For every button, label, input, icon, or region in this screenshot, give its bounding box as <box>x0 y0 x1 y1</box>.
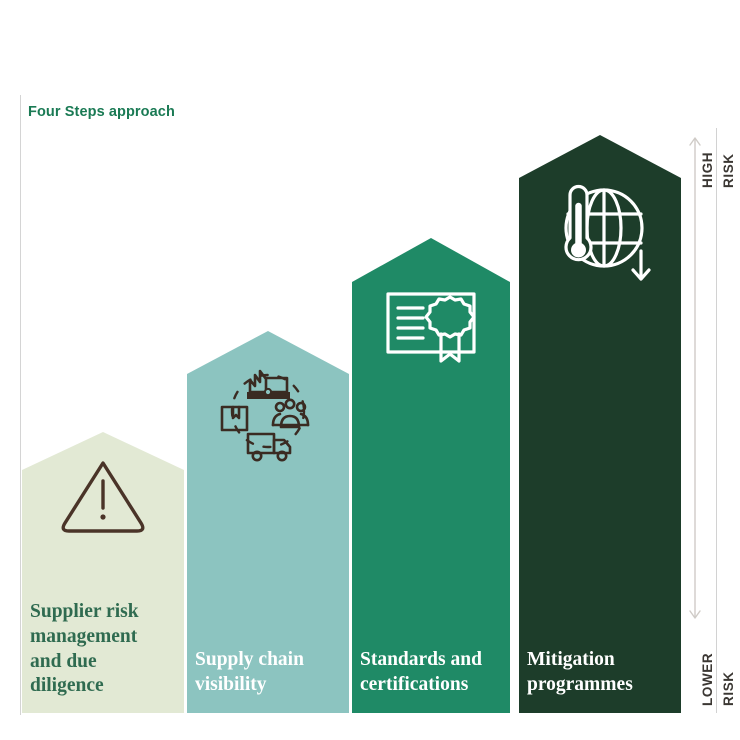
step-bar-1-label: Supplier risk management and due diligen… <box>30 600 180 699</box>
risk-axis-rule <box>716 128 717 713</box>
risk-label-lower-line1: LOWER <box>700 653 715 706</box>
risk-label-lower-line2: RISK <box>721 671 736 706</box>
risk-label-high-line1: HIGH <box>700 152 715 188</box>
infographic-canvas: Four Steps approach <box>0 0 740 740</box>
risk-label-high-line2: RISK <box>721 153 736 188</box>
step-bar-3-label: Standards and certifications <box>360 648 515 698</box>
step-bar-4-label: Mitigation programmes <box>527 648 682 698</box>
step-bar-4[interactable] <box>519 135 681 713</box>
risk-direction-arrow <box>684 125 710 630</box>
step-bar-2-label: Supply chain visibility <box>195 648 350 698</box>
